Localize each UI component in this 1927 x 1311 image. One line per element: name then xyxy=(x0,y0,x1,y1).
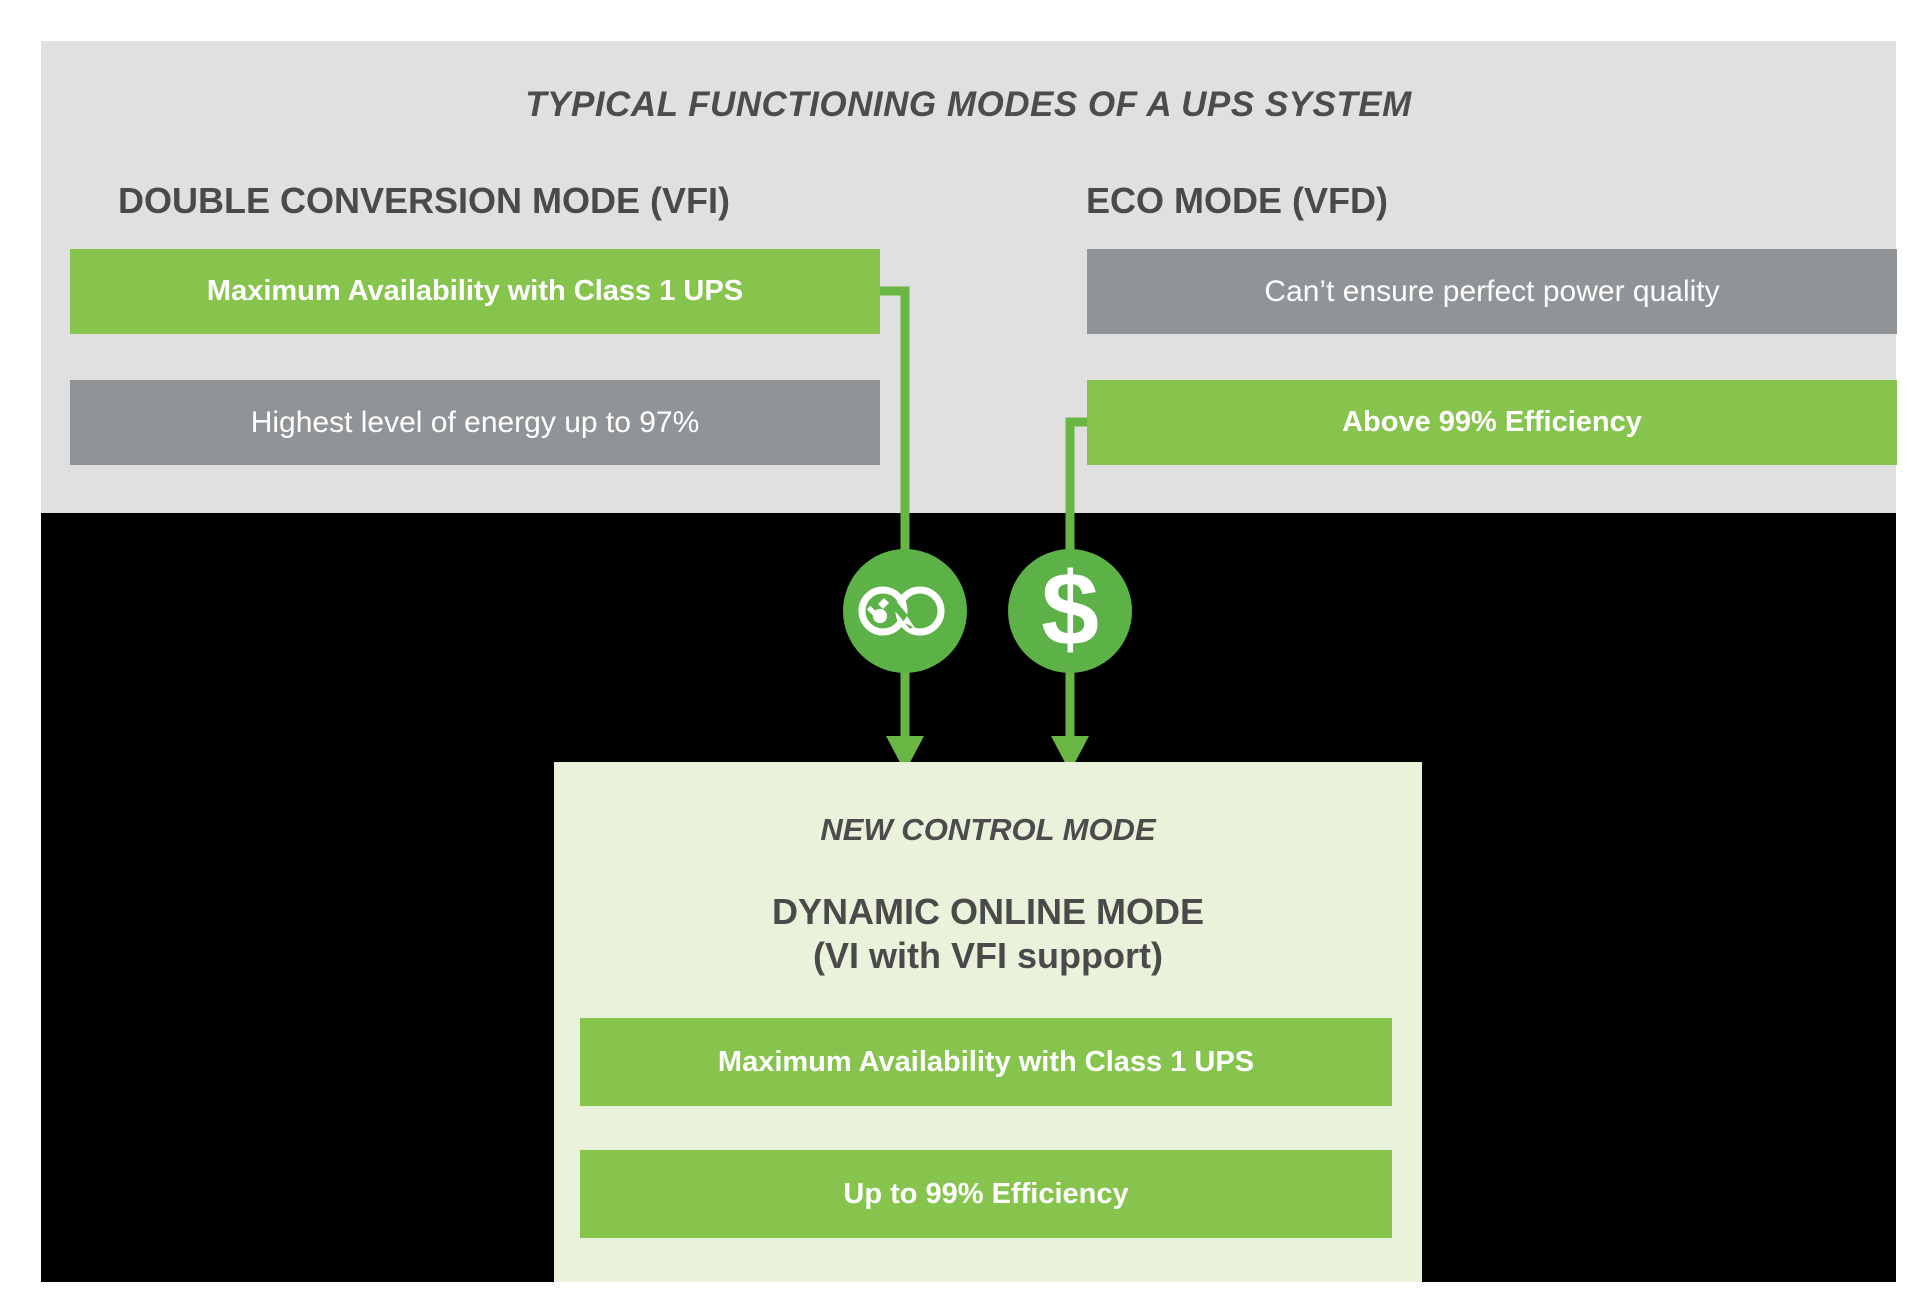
result-title-line2: (VI with VFI support) xyxy=(813,935,1163,976)
left-bar-energy: Highest level of energy up to 97% xyxy=(70,380,880,465)
power-plug-infinity-icon xyxy=(843,549,967,673)
eco-mode-heading: ECO MODE (VFD) xyxy=(1086,180,1388,222)
new-control-mode-card: NEW CONTROL MODE DYNAMIC ONLINE MODE (VI… xyxy=(554,762,1422,1282)
page-title: TYPICAL FUNCTIONING MODES OF A UPS SYSTE… xyxy=(41,85,1896,125)
right-bar-efficiency: Above 99% Efficiency xyxy=(1087,380,1897,465)
left-bar-availability: Maximum Availability with Class 1 UPS xyxy=(70,249,880,334)
result-eyebrow-label: NEW CONTROL MODE xyxy=(554,812,1422,848)
result-bar-efficiency: Up to 99% Efficiency xyxy=(580,1150,1392,1238)
dollar-sign-icon: $ xyxy=(1008,549,1132,673)
result-bar-availability: Maximum Availability with Class 1 UPS xyxy=(580,1018,1392,1106)
result-title: DYNAMIC ONLINE MODE (VI with VFI support… xyxy=(554,890,1422,978)
result-title-line1: DYNAMIC ONLINE MODE xyxy=(772,891,1204,932)
infographic-root: TYPICAL FUNCTIONING MODES OF A UPS SYSTE… xyxy=(0,0,1927,1311)
double-conversion-mode-heading: DOUBLE CONVERSION MODE (VFI) xyxy=(118,180,730,222)
svg-text:$: $ xyxy=(1041,563,1099,659)
right-bar-power-quality: Can’t ensure perfect power quality xyxy=(1087,249,1897,334)
